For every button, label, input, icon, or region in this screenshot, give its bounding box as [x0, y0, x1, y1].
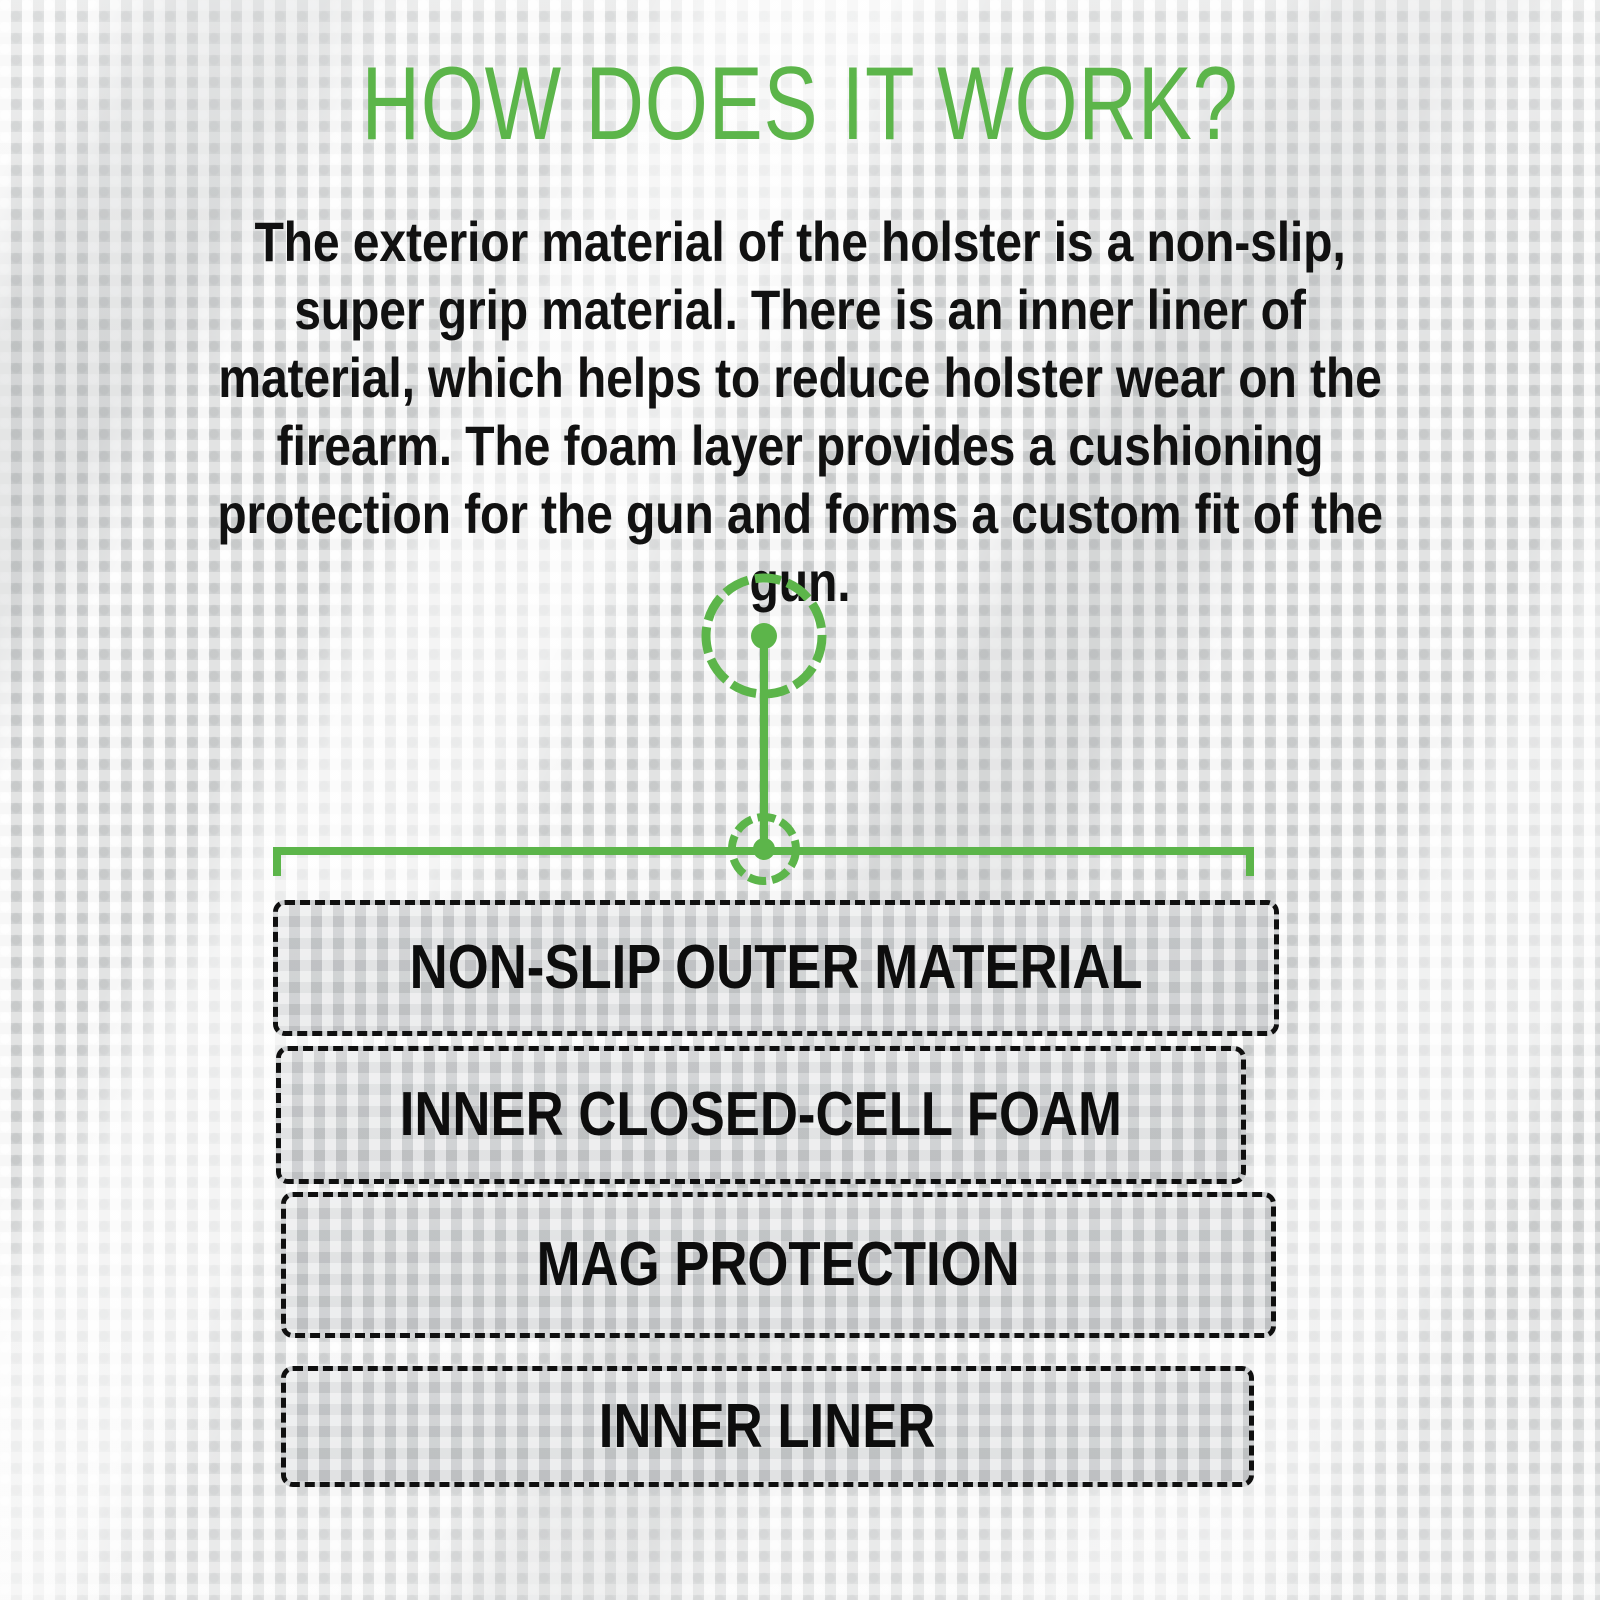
layer-label: NON-SLIP OUTER MATERIAL [410, 937, 1143, 999]
layer-stack: NON-SLIP OUTER MATERIAL INNER CLOSED-CEL… [0, 0, 1600, 1600]
layer-label: MAG PROTECTION [537, 1234, 1020, 1296]
layer-inner-closed-cell-foam[interactable]: INNER CLOSED-CELL FOAM [276, 1046, 1246, 1184]
layer-label: INNER LINER [599, 1396, 936, 1458]
layer-mag-protection[interactable]: MAG PROTECTION [281, 1192, 1276, 1338]
layer-non-slip-outer-material[interactable]: NON-SLIP OUTER MATERIAL [273, 900, 1279, 1036]
layer-label: INNER CLOSED-CELL FOAM [400, 1084, 1122, 1146]
layer-inner-liner[interactable]: INNER LINER [281, 1366, 1254, 1487]
infographic-canvas: HOW DOES IT WORK? The exterior material … [0, 0, 1600, 1600]
